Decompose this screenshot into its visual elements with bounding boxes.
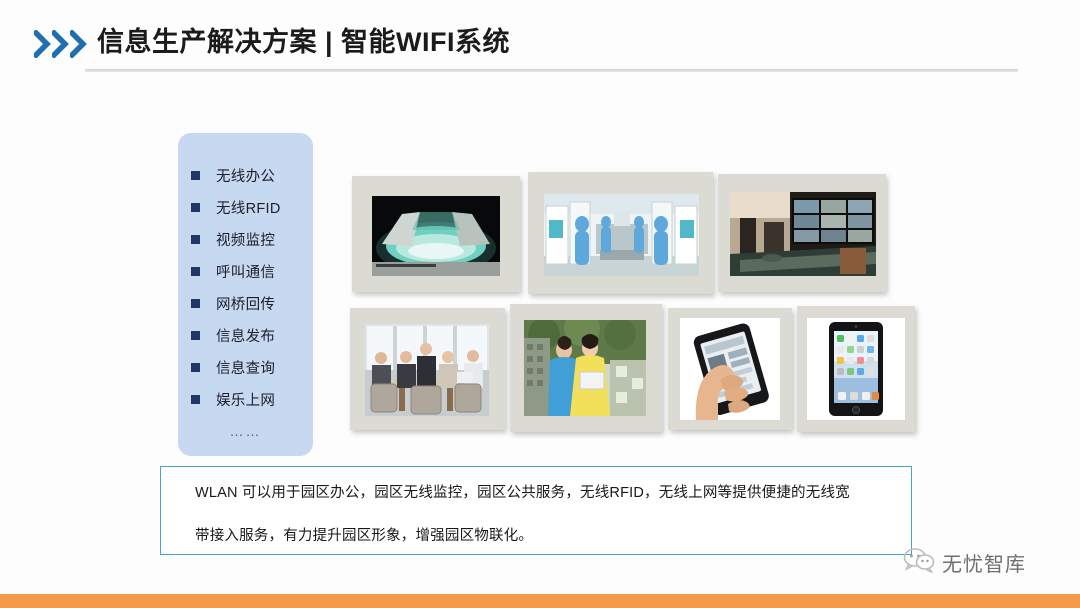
photo-tablet-device [807, 318, 905, 420]
square-bullet-icon [191, 171, 200, 180]
photo-hand-tablet [680, 318, 780, 420]
photo-frame[interactable] [528, 172, 713, 294]
list-item-label: 无线办公 [216, 165, 275, 186]
photo-frame[interactable] [668, 308, 792, 430]
photo-meeting-room [365, 324, 489, 416]
photo-gallery [350, 172, 915, 444]
photo-frame[interactable] [718, 174, 886, 292]
list-item[interactable]: 呼叫通信 [178, 255, 313, 287]
footer-accent-bar [0, 594, 1080, 608]
photo-cleanroom-production [544, 194, 699, 276]
feature-list: 无线办公 无线RFID 视频监控 呼叫通信 网桥回传 信息发布 [178, 159, 313, 415]
square-bullet-icon [191, 299, 200, 308]
watermark: 无忧智库 [903, 545, 1026, 579]
chevron-3-icon [70, 30, 87, 58]
list-item-label: 娱乐上网 [216, 389, 275, 410]
description-line-1: WLAN 可以用于园区办公，园区无线监控，园区公共服务，无线RFID，无线上网等… [161, 467, 911, 510]
description-box: WLAN 可以用于园区办公，园区无线监控，园区公共服务，无线RFID，无线上网等… [160, 466, 912, 555]
chevrons-right-icon [34, 29, 90, 59]
watermark-text: 无忧智库 [942, 548, 1026, 577]
square-bullet-icon [191, 331, 200, 340]
square-bullet-icon [191, 203, 200, 212]
list-item-label: 视频监控 [216, 229, 275, 250]
chevron-2-icon [52, 30, 69, 58]
description-line-2: 带接入服务，有力提升园区形象，增强园区物联化。 [161, 510, 911, 553]
photo-stadium-night [372, 196, 500, 276]
wechat-bubble-icon [903, 547, 935, 578]
photo-control-room [730, 192, 876, 276]
list-item-label: 网桥回传 [216, 293, 275, 314]
photo-frame[interactable] [352, 176, 520, 292]
photo-frame[interactable] [510, 304, 662, 432]
page-title: 信息生产解决方案 | 智能WIFI系统 [97, 22, 510, 62]
feature-list-panel: 无线办公 无线RFID 视频监控 呼叫通信 网桥回传 信息发布 [178, 133, 313, 456]
list-item[interactable]: 信息发布 [178, 319, 313, 351]
list-item[interactable]: 娱乐上网 [178, 383, 313, 415]
photo-frame[interactable] [350, 308, 505, 430]
slide-header: 信息生产解决方案 | 智能WIFI系统 [0, 0, 1080, 80]
list-ellipsis: …… [178, 423, 313, 439]
list-item-label: 信息发布 [216, 325, 275, 346]
square-bullet-icon [191, 267, 200, 276]
square-bullet-icon [191, 235, 200, 244]
list-item[interactable]: 信息查询 [178, 351, 313, 383]
list-item[interactable]: 视频监控 [178, 223, 313, 255]
list-item-label: 无线RFID [216, 197, 281, 218]
list-item-label: 信息查询 [216, 357, 275, 378]
chevron-1-icon [34, 30, 51, 58]
list-item-label: 呼叫通信 [216, 261, 275, 282]
square-bullet-icon [191, 395, 200, 404]
list-item[interactable]: 网桥回传 [178, 287, 313, 319]
photo-frame[interactable] [797, 306, 915, 432]
list-item[interactable]: 无线RFID [178, 191, 313, 223]
header-divider [85, 69, 1018, 72]
slide-canvas: 信息生产解决方案 | 智能WIFI系统 无线办公 无线RFID 视频监控 呼叫通… [0, 0, 1080, 608]
list-item[interactable]: 无线办公 [178, 159, 313, 191]
photo-outdoor-wifi [524, 320, 646, 416]
square-bullet-icon [191, 363, 200, 372]
